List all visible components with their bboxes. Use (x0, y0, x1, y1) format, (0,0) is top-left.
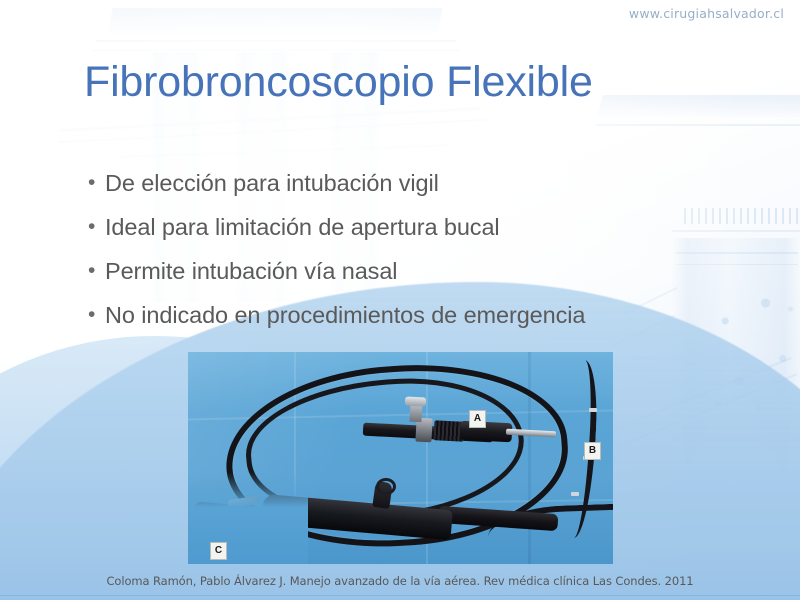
light-guide-cap (405, 396, 426, 406)
tip-marking-band (589, 408, 597, 412)
suction-valve-ring (376, 478, 396, 495)
drape-occluder (188, 472, 308, 564)
bullet-text: Permite intubación vía nasal (105, 256, 397, 286)
bullet-item: • De elección para intubación vigil (88, 168, 708, 198)
figure-label-c: C (210, 542, 227, 560)
bullet-text: De elección para intubación vigil (105, 168, 439, 198)
bullet-item: • Ideal para limitación de apertura buca… (88, 212, 708, 242)
presentation-slide: www.cirugiahsalvador.cl Fibrobroncoscopi… (0, 0, 800, 600)
bullet-marker-icon: • (88, 256, 105, 286)
bronchoscope-photo: A B C (188, 352, 613, 564)
bullet-marker-icon: • (88, 168, 105, 198)
bullet-marker-icon: • (88, 212, 105, 242)
bullet-text: No indicado en procedimientos de emergen… (105, 300, 585, 330)
slide-title: Fibrobroncoscopio Flexible (84, 58, 593, 107)
light-guide-body (460, 421, 513, 443)
bullet-text: Ideal para limitación de apertura bucal (105, 212, 500, 242)
tip-marking-band (571, 492, 579, 496)
bullet-list: • De elección para intubación vigil • Id… (88, 168, 708, 344)
bullet-item: • No indicado en procedimientos de emerg… (88, 300, 708, 330)
source-citation: Coloma Ramón, Pablo Álvarez J. Manejo av… (0, 574, 800, 588)
bullet-marker-icon: • (88, 300, 105, 330)
figure-label-b: B (584, 442, 601, 460)
bottom-divider (0, 595, 800, 596)
bullet-item: • Permite intubación vía nasal (88, 256, 708, 286)
figure-label-a: A (469, 410, 486, 428)
site-url-watermark: www.cirugiahsalvador.cl (629, 6, 784, 21)
